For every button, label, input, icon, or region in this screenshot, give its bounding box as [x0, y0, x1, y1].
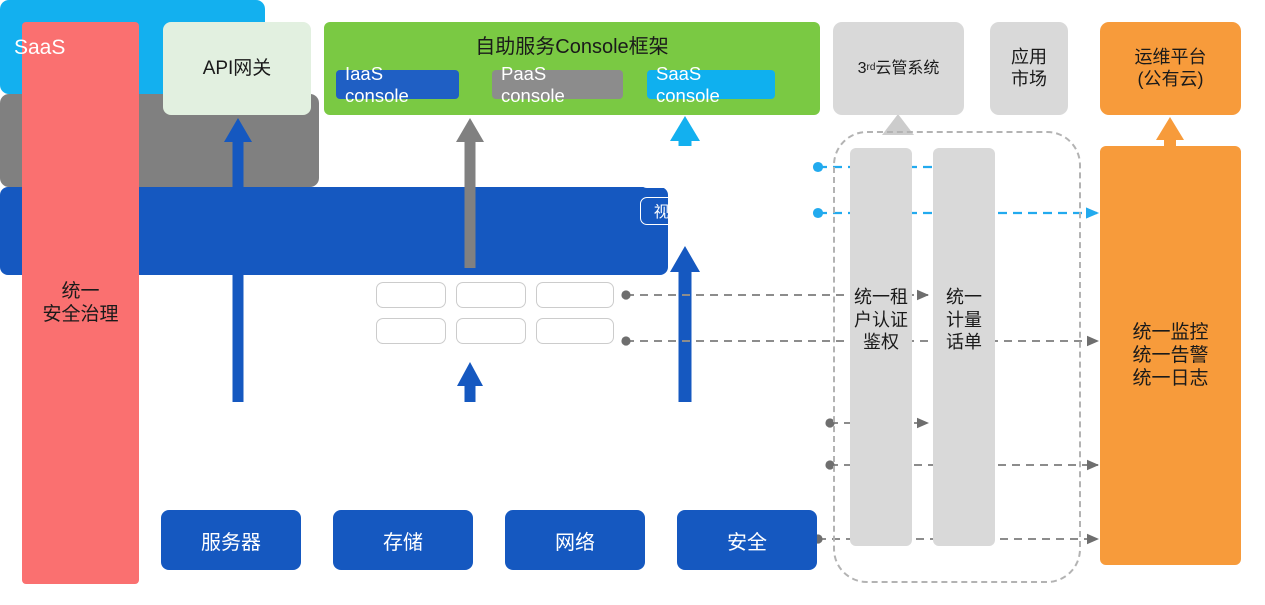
paas-service-modelarts[interactable]: ModelArts [536, 282, 614, 308]
infra-service-compute[interactable]: Compute [348, 421, 451, 456]
arrow-infra-to-paas [457, 362, 483, 402]
api-gateway-box: API网关 [163, 22, 311, 115]
ops-unified-monitoring-panel: 统一监控 统一告警 统一日志 [1100, 146, 1241, 565]
arrow-ops-unified-to-platform [1156, 117, 1184, 146]
hardware-network-box[interactable]: 网络 [505, 510, 645, 570]
console-framework-title: 自助服务Console框架 [324, 35, 820, 59]
saas-service-video-cloud[interactable]: 视频云 [640, 197, 714, 225]
paas-service-dgc[interactable]: DGC [456, 282, 526, 308]
infrastructure-layer-label: 统一基础设施服务 [176, 427, 344, 457]
saas-service-desktop-cloud[interactable]: 桌面云 [722, 197, 796, 225]
shared-service-metering-column: 统一 计量 话单 [933, 148, 995, 546]
paas-layer-label: PaaS [318, 303, 372, 329]
iaas-console-chip[interactable]: IaaS console [336, 70, 459, 99]
shared-service-auth-column: 统一租 户认证 鉴权 [850, 148, 912, 546]
third-party-label-prefix: 3 [858, 59, 867, 79]
architecture-diagram: 统一 安全治理 API网关 自助服务Console框架 IaaS console… [0, 0, 1265, 605]
infra-service-storage[interactable]: Storage [468, 421, 571, 456]
saas-service-blockchain[interactable]: 区块链 [640, 160, 714, 188]
infra-service-cce[interactable]: CCE [708, 421, 812, 456]
security-governance-panel: 统一 安全治理 [22, 22, 139, 584]
arrow-infra-to-saas [670, 246, 700, 402]
paas-service-cache[interactable]: 缓存 [456, 318, 526, 344]
saas-console-chip[interactable]: SaaS console [647, 70, 775, 99]
infra-service-network[interactable]: Network [588, 421, 692, 456]
app-market-box: 应用 市场 [990, 22, 1068, 115]
paas-service-roma[interactable]: ROMA [376, 282, 446, 308]
paas-service-database[interactable]: 数据库 [376, 318, 446, 344]
arrow-saas-to-console [670, 116, 700, 146]
ops-platform-box: 运维平台 (公有云) [1100, 22, 1241, 115]
saas-layer-label: SaaS [14, 36, 65, 60]
hardware-security-box[interactable]: 安全 [677, 510, 817, 570]
paas-console-chip[interactable]: PaaS console [492, 70, 623, 99]
third-party-label-sup: rd [866, 62, 875, 74]
hardware-server-box[interactable]: 服务器 [161, 510, 301, 570]
paas-service-bigdata[interactable]: 大数据 [536, 318, 614, 344]
hardware-storage-box[interactable]: 存储 [333, 510, 473, 570]
third-party-cloud-mgmt-box: 3rd云管系统 [833, 22, 964, 115]
saas-service-iot[interactable]: IoT [722, 160, 796, 188]
third-party-label-suffix: 云管系统 [875, 59, 939, 79]
